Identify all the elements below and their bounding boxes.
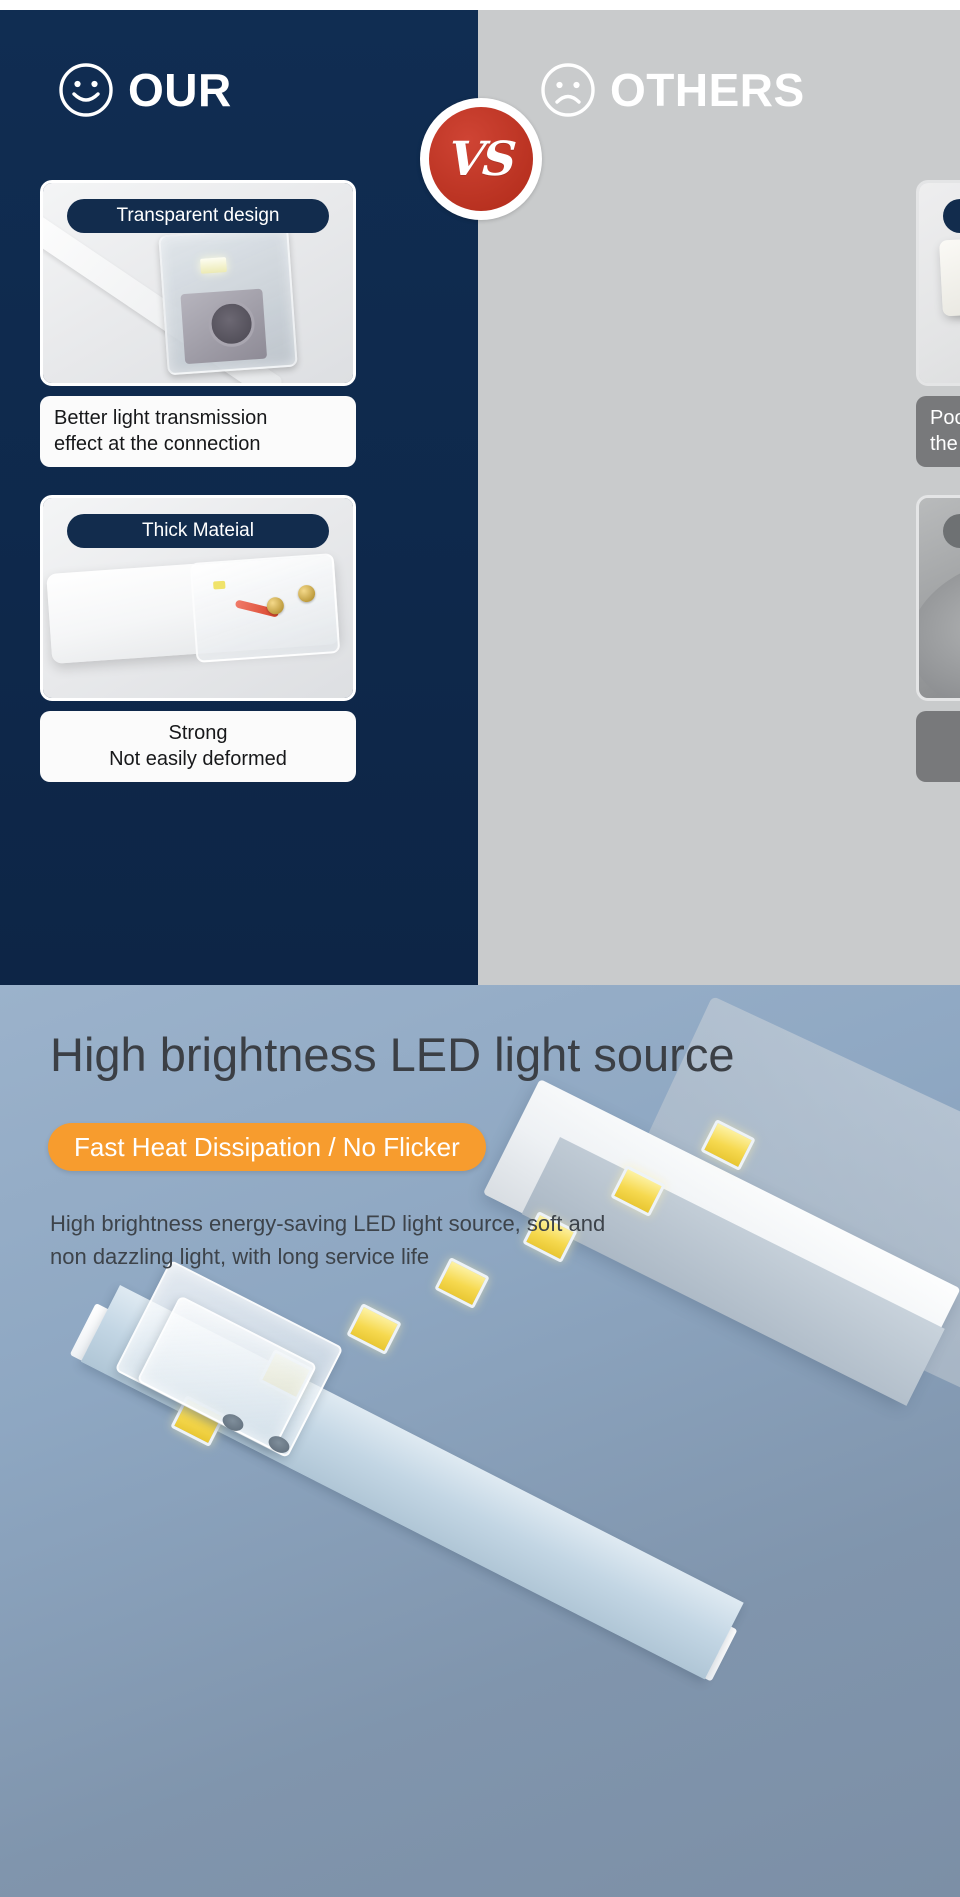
our-card-1-pill: Transparent design (67, 199, 329, 233)
our-header: OUR (0, 10, 478, 170)
led-product-illustration (0, 985, 960, 1897)
caption-line-2: the connection point (930, 432, 960, 458)
product-infographic-page: OUR Transparent design (0, 0, 960, 1897)
sad-face-icon (540, 62, 596, 118)
caption-line-1: Better light transmission (54, 406, 342, 432)
caption-line-1: Poor light transmittance at (930, 406, 960, 432)
led-chip (346, 1303, 402, 1355)
transparent-design-photo: Transparent design (40, 180, 356, 386)
others-card-1: Opaque design Poor light transmittance a… (916, 180, 960, 467)
our-card-1: Transparent design Better light transmis… (40, 180, 356, 467)
others-card-2-caption: Fragile Easy Deformation (916, 711, 960, 782)
vs-badge: VS (420, 98, 542, 220)
opaque-design-photo: Opaque design (916, 180, 960, 386)
smiley-face-icon (58, 62, 114, 118)
our-column: OUR Transparent design (0, 10, 478, 985)
vs-badge-circle: VS (429, 107, 533, 211)
feature-description: High brightness energy-saving LED light … (50, 1207, 610, 1273)
our-card-2: Thick Mateial Strong Not easily deformed (40, 495, 356, 782)
led-chip-icon (200, 257, 227, 274)
our-card-2-pill: Thick Mateial (67, 514, 329, 548)
feature-title: High brightness LED light source (50, 1027, 734, 1082)
thin-material-photo: Thin Mateial (916, 495, 960, 701)
our-title: OUR (128, 67, 232, 113)
transparent-cover (190, 553, 341, 663)
caption-line-2: effect at the connection (54, 432, 342, 458)
our-card-2-caption: Strong Not easily deformed (40, 711, 356, 782)
others-column: OTHERS Opaque design (478, 10, 960, 985)
others-header: OTHERS (478, 10, 960, 170)
comparison-section: OUR Transparent design (0, 10, 960, 985)
opaque-end-cap (939, 238, 960, 317)
caption-line-2: Easy Deformation (930, 747, 960, 773)
yellow-component (213, 581, 226, 590)
caption-line-1: Fragile (930, 721, 960, 747)
feature-badge: Fast Heat Dissipation / No Flicker (48, 1123, 486, 1171)
thick-material-photo: Thick Mateial (40, 495, 356, 701)
others-card-2: Thin Mateial Fragile Easy Deformation (916, 495, 960, 782)
our-card-1-caption: Better light transmission effect at the … (40, 396, 356, 467)
feature-section: High brightness LED light source Fast He… (0, 985, 960, 1897)
gold-pin (266, 597, 284, 615)
vs-badge-label: VS (447, 136, 515, 183)
socket-ring (207, 299, 256, 348)
caption-line-1: Strong (54, 721, 342, 747)
gold-pin (298, 584, 316, 602)
caption-line-2: Not easily deformed (54, 747, 342, 773)
internal-metal-part (180, 289, 267, 365)
others-title: OTHERS (610, 67, 805, 113)
transparent-end-cap (158, 227, 297, 376)
others-card-1-caption: Poor light transmittance at the connecti… (916, 396, 960, 467)
